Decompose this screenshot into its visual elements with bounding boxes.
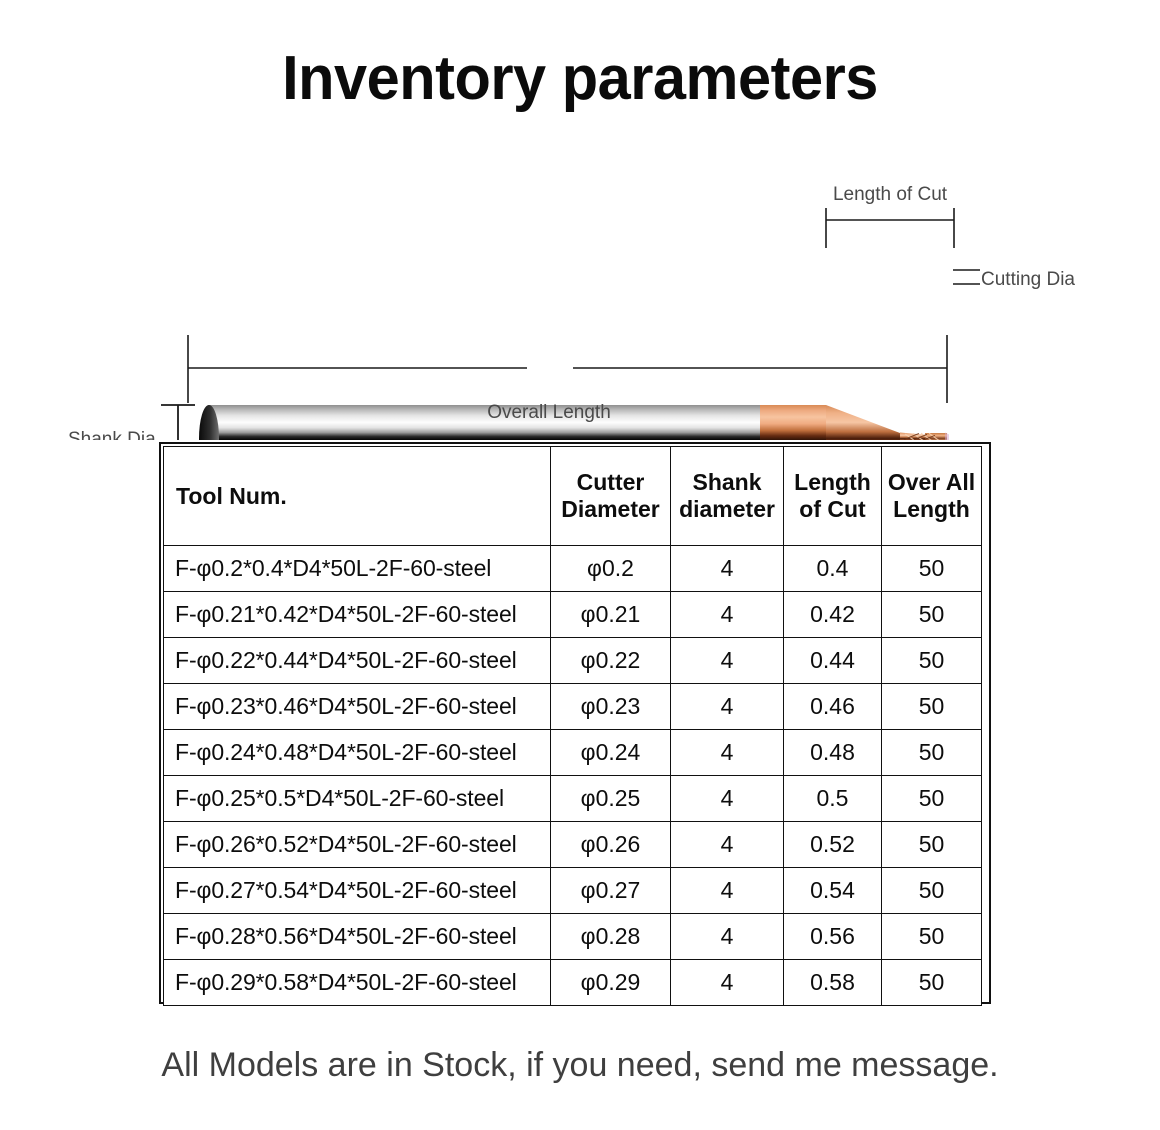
header-over-all-length-line1: Over All (888, 469, 975, 495)
header-cutter-diameter-line1: Cutter (577, 469, 645, 495)
cell-cutter-diameter: φ0.2 (551, 546, 671, 592)
table-row: F-φ0.22*0.44*D4*50L-2F-60-steel φ0.22 4 … (164, 638, 982, 684)
inventory-parameters-table: Tool Num. Cutter Diameter Shank diameter… (163, 446, 982, 1006)
overall-length-dimension (188, 335, 947, 403)
cell-length-of-cut: 0.44 (784, 638, 882, 684)
cell-shank-diameter: 4 (671, 684, 784, 730)
shank-dia-label: Shank Dia (68, 429, 156, 440)
table-row: F-φ0.26*0.52*D4*50L-2F-60-steel φ0.26 4 … (164, 822, 982, 868)
cell-tool-num: F-φ0.23*0.46*D4*50L-2F-60-steel (164, 684, 551, 730)
cell-cutter-diameter: φ0.23 (551, 684, 671, 730)
header-cutter-diameter: Cutter Diameter (551, 447, 671, 546)
table-row: F-φ0.21*0.42*D4*50L-2F-60-steel φ0.21 4 … (164, 592, 982, 638)
cell-length-of-cut: 0.58 (784, 960, 882, 1006)
header-over-all-length-line2: Length (893, 496, 970, 522)
cell-shank-diameter: 4 (671, 546, 784, 592)
cell-tool-num: F-φ0.21*0.42*D4*50L-2F-60-steel (164, 592, 551, 638)
shank-dia-dimension (161, 405, 195, 440)
shank-body (208, 405, 762, 440)
cell-cutter-diameter: φ0.22 (551, 638, 671, 684)
tip-end-face (945, 433, 949, 441)
table-row: F-φ0.29*0.58*D4*50L-2F-60-steel φ0.29 4 … (164, 960, 982, 1006)
cell-over-all-length: 50 (882, 592, 982, 638)
cutting-dia-leader (953, 270, 980, 284)
cell-length-of-cut: 0.56 (784, 914, 882, 960)
table-header-row: Tool Num. Cutter Diameter Shank diameter… (164, 447, 982, 546)
cell-over-all-length: 50 (882, 914, 982, 960)
cell-shank-diameter: 4 (671, 822, 784, 868)
cell-over-all-length: 50 (882, 868, 982, 914)
cell-shank-diameter: 4 (671, 592, 784, 638)
cell-cutter-diameter: φ0.29 (551, 960, 671, 1006)
cell-over-all-length: 50 (882, 638, 982, 684)
cutting-dia-label: Cutting Dia (981, 269, 1075, 290)
spec-table-container: Tool Num. Cutter Diameter Shank diameter… (163, 446, 987, 1006)
length-of-cut-dimension (826, 208, 954, 248)
cell-shank-diameter: 4 (671, 638, 784, 684)
footer-note: All Models are in Stock, if you need, se… (0, 1046, 1160, 1085)
table-row: F-φ0.27*0.54*D4*50L-2F-60-steel φ0.27 4 … (164, 868, 982, 914)
cell-length-of-cut: 0.46 (784, 684, 882, 730)
overall-length-label: Overall Length (487, 402, 611, 423)
table-row: F-φ0.2*0.4*D4*50L-2F-60-steel φ0.2 4 0.4… (164, 546, 982, 592)
cell-shank-diameter: 4 (671, 914, 784, 960)
header-over-all-length: Over All Length (882, 447, 982, 546)
table-row: F-φ0.28*0.56*D4*50L-2F-60-steel φ0.28 4 … (164, 914, 982, 960)
cell-length-of-cut: 0.48 (784, 730, 882, 776)
page-title: Inventory parameters (23, 48, 1137, 110)
cell-over-all-length: 50 (882, 960, 982, 1006)
cell-shank-diameter: 4 (671, 776, 784, 822)
coated-body (760, 405, 826, 440)
cell-length-of-cut: 0.4 (784, 546, 882, 592)
cell-shank-diameter: 4 (671, 868, 784, 914)
cell-cutter-diameter: φ0.26 (551, 822, 671, 868)
header-length-of-cut: Length of Cut (784, 447, 882, 546)
cell-length-of-cut: 0.52 (784, 822, 882, 868)
tapered-neck (826, 405, 900, 440)
cell-tool-num: F-φ0.29*0.58*D4*50L-2F-60-steel (164, 960, 551, 1006)
header-length-of-cut-line1: Length (794, 469, 871, 495)
cell-tool-num: F-φ0.25*0.5*D4*50L-2F-60-steel (164, 776, 551, 822)
cell-tool-num: F-φ0.28*0.56*D4*50L-2F-60-steel (164, 914, 551, 960)
header-shank-diameter-line2: diameter (679, 496, 775, 522)
cell-over-all-length: 50 (882, 822, 982, 868)
cell-tool-num: F-φ0.26*0.52*D4*50L-2F-60-steel (164, 822, 551, 868)
cell-cutter-diameter: φ0.24 (551, 730, 671, 776)
cell-cutter-diameter: φ0.28 (551, 914, 671, 960)
cell-tool-num: F-φ0.2*0.4*D4*50L-2F-60-steel (164, 546, 551, 592)
cell-cutter-diameter: φ0.21 (551, 592, 671, 638)
cell-over-all-length: 50 (882, 776, 982, 822)
cell-length-of-cut: 0.5 (784, 776, 882, 822)
cell-over-all-length: 50 (882, 730, 982, 776)
tool-diagram: Shank Dia Length of Cut Cutting Dia Over… (0, 160, 1160, 440)
cell-tool-num: F-φ0.24*0.48*D4*50L-2F-60-steel (164, 730, 551, 776)
cell-over-all-length: 50 (882, 546, 982, 592)
cell-length-of-cut: 0.42 (784, 592, 882, 638)
header-shank-diameter: Shank diameter (671, 447, 784, 546)
cell-cutter-diameter: φ0.25 (551, 776, 671, 822)
header-shank-diameter-line1: Shank (692, 469, 761, 495)
table-row: F-φ0.25*0.5*D4*50L-2F-60-steel φ0.25 4 0… (164, 776, 982, 822)
cell-tool-num: F-φ0.27*0.54*D4*50L-2F-60-steel (164, 868, 551, 914)
length-of-cut-label: Length of Cut (833, 184, 948, 205)
cell-shank-diameter: 4 (671, 960, 784, 1006)
table-row: F-φ0.23*0.46*D4*50L-2F-60-steel φ0.23 4 … (164, 684, 982, 730)
header-cutter-diameter-line2: Diameter (561, 496, 659, 522)
cell-over-all-length: 50 (882, 684, 982, 730)
header-tool-num-line1: Tool Num. (176, 483, 287, 509)
header-tool-num: Tool Num. (164, 447, 551, 546)
header-length-of-cut-line2: of Cut (799, 496, 865, 522)
cell-cutter-diameter: φ0.27 (551, 868, 671, 914)
cell-tool-num: F-φ0.22*0.44*D4*50L-2F-60-steel (164, 638, 551, 684)
cell-length-of-cut: 0.54 (784, 868, 882, 914)
table-row: F-φ0.24*0.48*D4*50L-2F-60-steel φ0.24 4 … (164, 730, 982, 776)
cell-shank-diameter: 4 (671, 730, 784, 776)
